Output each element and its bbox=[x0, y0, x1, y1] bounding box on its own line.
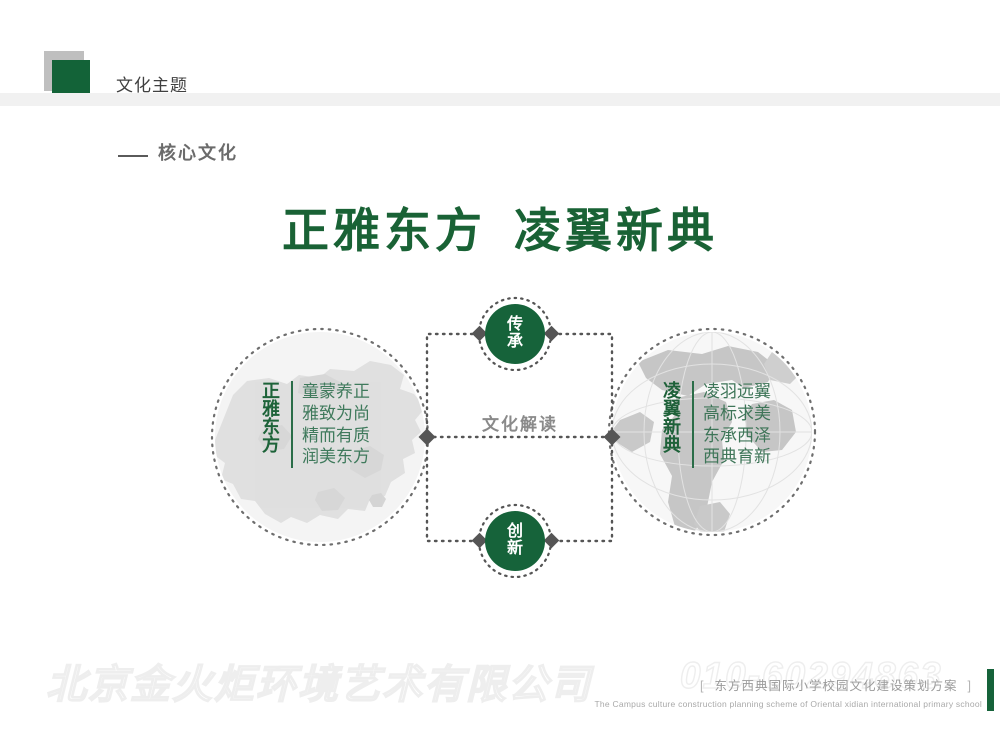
right-panel-lines: 凌羽远翼 高标求美 东承西泽 西典育新 bbox=[703, 381, 771, 468]
left-panel-lines: 童蒙养正 雅致为尚 精而有质 润美东方 bbox=[302, 381, 370, 468]
left-panel-line-4: 润美东方 bbox=[302, 446, 370, 468]
right-panel-divider bbox=[692, 381, 694, 468]
right-culture-panel: 凌翼新典 凌羽远翼 高标求美 东承西泽 西典育新 bbox=[659, 381, 771, 468]
footer-title-cn-row: [东方西典国际小学校园文化建设策划方案] bbox=[594, 675, 982, 694]
footer-bracket-open: [ bbox=[690, 679, 714, 693]
node-inheritance-line-2: 承 bbox=[507, 334, 523, 351]
footer-accent-bar bbox=[987, 669, 994, 711]
node-innovation-line-1: 创 bbox=[507, 524, 523, 541]
culture-diagram: 正雅东方 童蒙养正 雅致为尚 精而有质 润美东方 凌翼新典 凌羽远翼 高标求美 … bbox=[0, 0, 1000, 749]
left-panel-line-3: 精而有质 bbox=[302, 425, 370, 447]
right-panel-line-4: 西典育新 bbox=[703, 446, 771, 468]
right-panel-line-1: 凌羽远翼 bbox=[703, 381, 771, 403]
left-panel-line-2: 雅致为尚 bbox=[302, 403, 370, 425]
left-panel-vertical-title: 正雅东方 bbox=[258, 381, 281, 453]
diagram-graphics bbox=[0, 0, 1000, 749]
connector-lines bbox=[427, 334, 612, 541]
footer-bracket-close: ] bbox=[958, 679, 982, 693]
diagram-center-label: 文化解读 bbox=[440, 410, 600, 435]
right-panel-vertical-title: 凌翼新典 bbox=[659, 381, 682, 453]
slide-footer: [东方西典国际小学校园文化建设策划方案] The Campus culture … bbox=[594, 675, 982, 709]
company-watermark: 北京金火炬环境艺术有限公司 bbox=[46, 652, 592, 710]
left-panel-line-1: 童蒙养正 bbox=[302, 381, 370, 403]
right-panel-line-2: 高标求美 bbox=[703, 403, 771, 425]
footer-title-cn: 东方西典国际小学校园文化建设策划方案 bbox=[715, 679, 958, 693]
footer-title-en: The Campus culture construction planning… bbox=[594, 699, 982, 709]
node-innovation[interactable]: 创 新 bbox=[485, 511, 545, 571]
slide-canvas: 文化主题 核心文化 正雅东方凌翼新典 bbox=[0, 0, 1000, 749]
left-panel-divider bbox=[291, 381, 293, 468]
left-culture-panel: 正雅东方 童蒙养正 雅致为尚 精而有质 润美东方 bbox=[258, 381, 370, 468]
node-inheritance-line-1: 传 bbox=[507, 317, 523, 334]
node-innovation-line-2: 新 bbox=[507, 541, 523, 558]
right-panel-line-3: 东承西泽 bbox=[703, 425, 771, 447]
node-inheritance[interactable]: 传 承 bbox=[485, 304, 545, 364]
